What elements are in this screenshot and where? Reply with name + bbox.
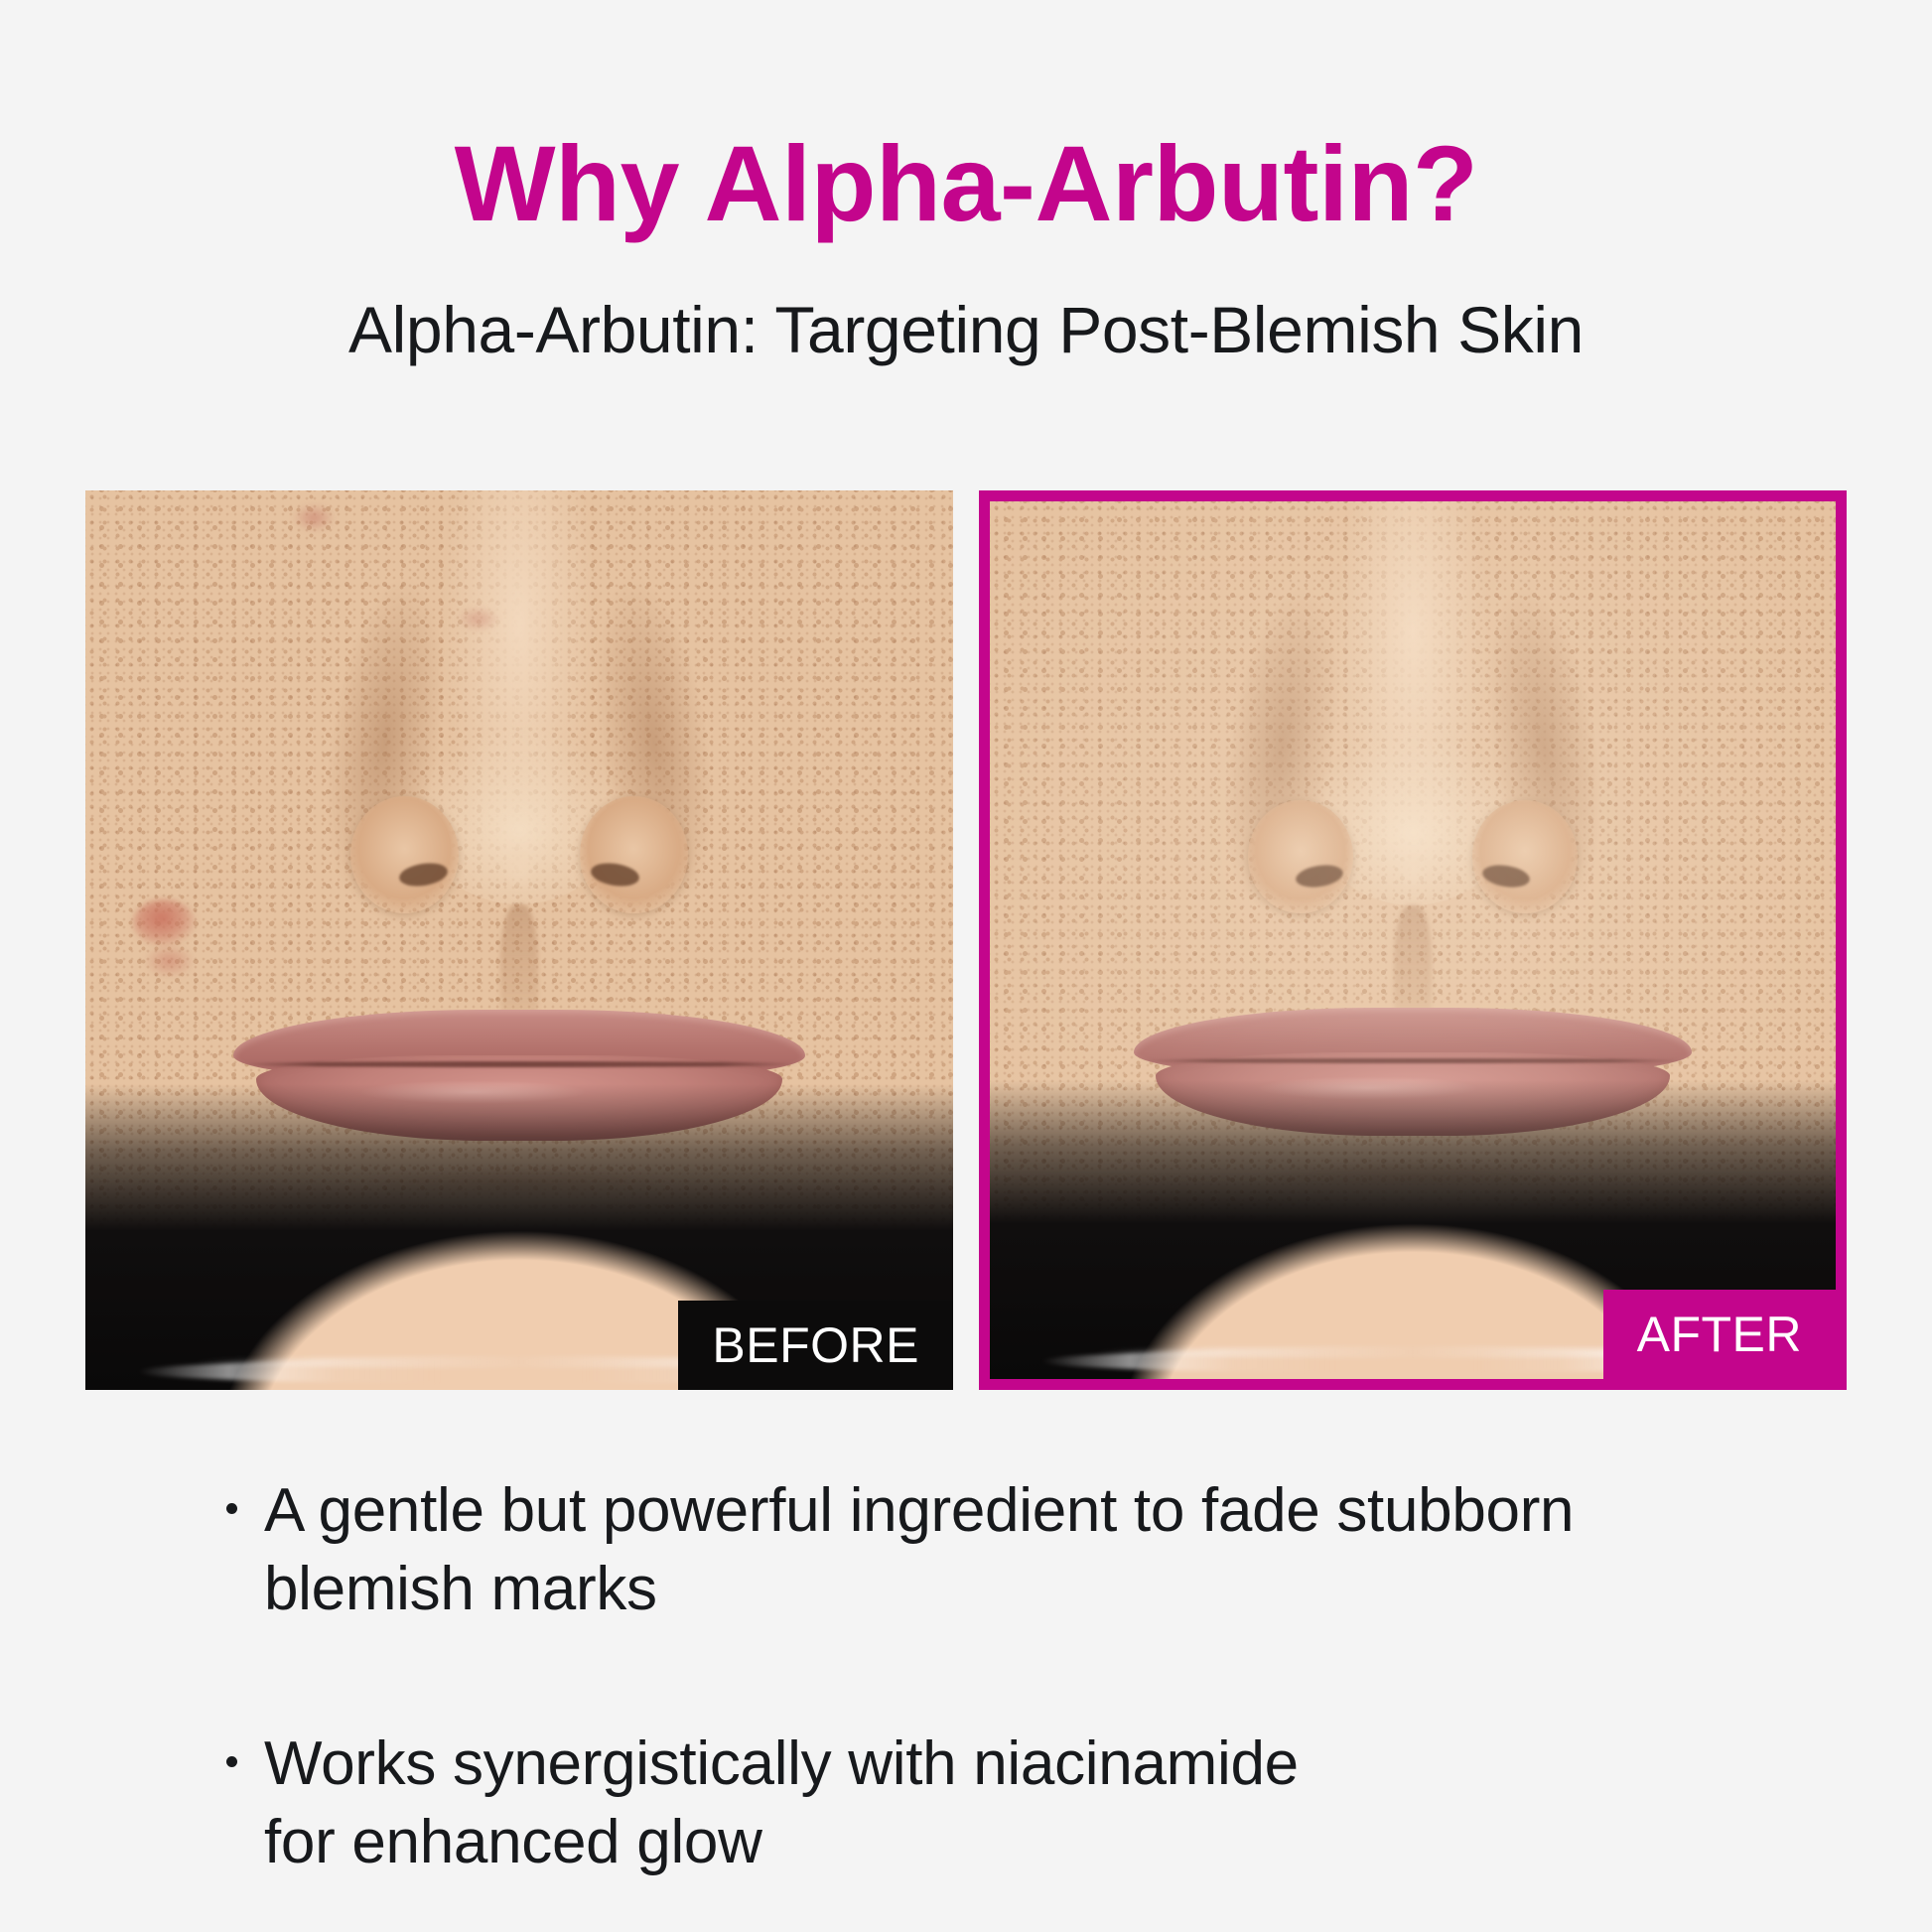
before-label: BEFORE — [678, 1301, 953, 1390]
page-title: Why Alpha-Arbutin? — [0, 127, 1932, 239]
blemish-mark-temple — [294, 504, 334, 531]
blemish-mark-cheek-secondary — [146, 945, 193, 978]
before-image-panel: BEFORE — [85, 490, 953, 1390]
bullet-dot-icon — [226, 1503, 237, 1514]
nose-columella — [497, 850, 541, 899]
bullet-line-1: A gentle but powerful ingredient to fade… — [264, 1476, 1574, 1545]
after-face-photo — [990, 501, 1836, 1379]
bullet-dot-icon — [226, 1756, 237, 1767]
bullet-line-2: blemish marks — [264, 1555, 657, 1623]
before-face-photo — [85, 490, 953, 1390]
bullet-line-1: Works synergistically with niacinamide — [264, 1729, 1299, 1798]
nostril-wing-right — [580, 796, 688, 913]
list-item: Works synergistically with niacinamide f… — [226, 1725, 1775, 1882]
alpha-arbutin-benefit-card: Why Alpha-Arbutin? Alpha-Arbutin: Target… — [0, 0, 1932, 1932]
nostril-wing-left — [1248, 800, 1354, 914]
before-after-comparison: BEFORE — [85, 490, 1847, 1390]
after-image-panel: AFTER — [979, 490, 1847, 1390]
nose-columella — [1392, 853, 1435, 901]
after-label: AFTER — [1603, 1290, 1836, 1379]
nostril-wing-right — [1472, 800, 1579, 914]
page-subtitle: Alpha-Arbutin: Targeting Post-Blemish Sk… — [0, 294, 1932, 366]
lip-line — [238, 1061, 799, 1066]
list-item: A gentle but powerful ingredient to fade… — [226, 1471, 1775, 1629]
bullet-line-2: for enhanced glow — [264, 1808, 762, 1876]
nostril-wing-left — [350, 796, 459, 913]
benefit-list: A gentle but powerful ingredient to fade… — [226, 1471, 1775, 1881]
blemish-mark-cheek — [133, 899, 196, 946]
